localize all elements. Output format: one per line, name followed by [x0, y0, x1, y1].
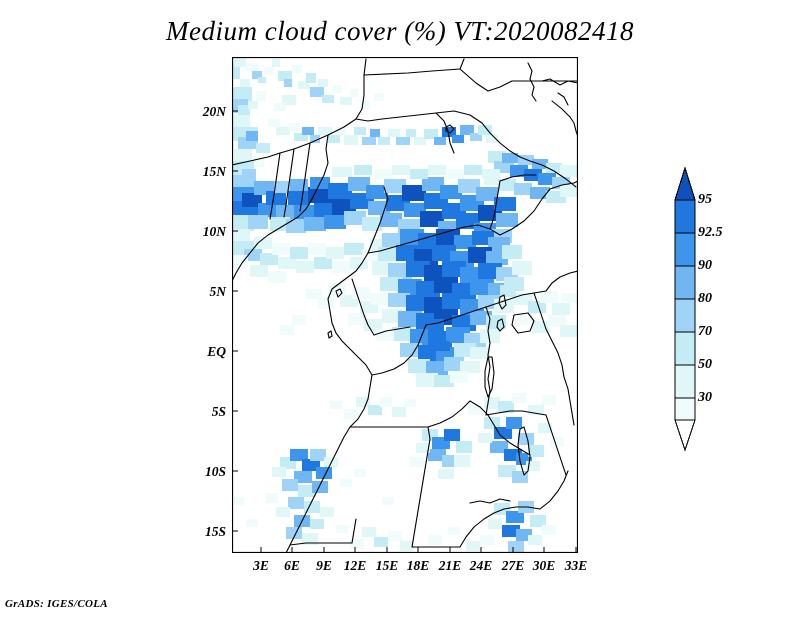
- colorbar-label-80: 80: [698, 291, 712, 307]
- colorbar-band-30: [675, 398, 695, 420]
- colorbar-band-80: [675, 299, 695, 332]
- map-plot: [232, 57, 578, 553]
- colorbar-label-95: 95: [698, 192, 712, 208]
- footer-credit: GrADS: IGES/COLA: [5, 598, 108, 610]
- y-tick-label-15n: 15N: [184, 164, 226, 180]
- y-tick-label-5n: 5N: [184, 284, 226, 300]
- y-tick-label-5s: 5S: [184, 404, 226, 420]
- map-svg: [232, 57, 578, 553]
- colorbar-band-90: [675, 266, 695, 299]
- colorbar-label-30: 30: [698, 390, 712, 406]
- y-tick-label-10s: 10S: [184, 464, 226, 480]
- colorbar: 95 92.5 90 80 70 50 30: [666, 160, 796, 455]
- colorbar-extend-min: [675, 420, 695, 450]
- colorbar-band-92p5: [675, 233, 695, 266]
- colorbar-band-70: [675, 332, 695, 365]
- y-tick-label-20n: 20N: [184, 104, 226, 120]
- page-title: Medium cloud cover (%) VT:2020082418: [0, 16, 800, 47]
- colorbar-label-92p5: 92.5: [698, 225, 723, 241]
- colorbar-label-50: 50: [698, 357, 712, 373]
- y-tick-label-10n: 10N: [184, 224, 226, 240]
- colorbar-extend-max: [675, 168, 695, 200]
- colorbar-band-95: [675, 200, 695, 233]
- x-tick-label-33e: 33E: [556, 558, 596, 574]
- colorbar-label-90: 90: [698, 258, 712, 274]
- y-tick-label-15s: 15S: [184, 524, 226, 540]
- screenshot-root: Medium cloud cover (%) VT:2020082418: [0, 0, 800, 618]
- colorbar-band-50: [675, 365, 695, 398]
- y-tick-label-eq: EQ: [184, 344, 226, 360]
- colorbar-svg: [666, 160, 796, 455]
- colorbar-label-70: 70: [698, 324, 712, 340]
